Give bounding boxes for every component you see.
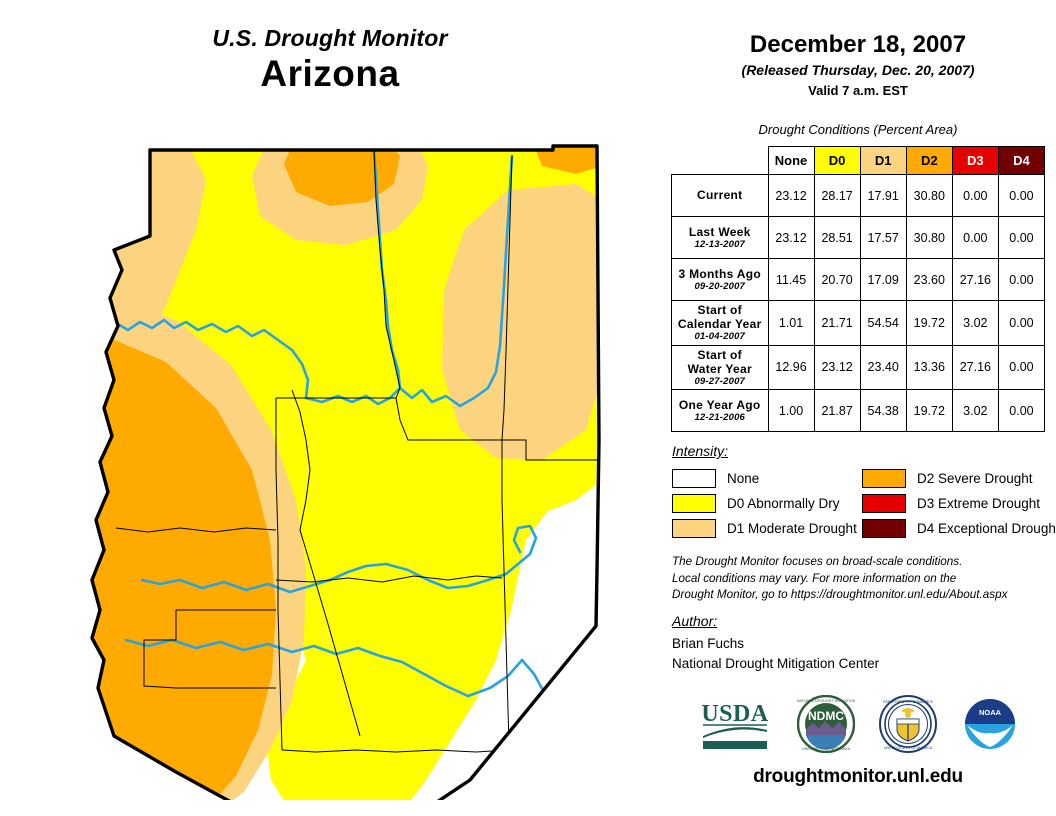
legend-label: D4 Exceptional Drought [917,521,1056,536]
col-header-d0: D0 [814,147,860,175]
svg-text:UNIVERSITY OF NEBRASKA: UNIVERSITY OF NEBRASKA [802,747,851,751]
table-corner-cell [672,147,769,175]
legend-item-d3: D3 Extreme Drought [862,491,1056,515]
row-date: 09-27-2007 [675,376,765,387]
cell-d0: 28.17 [814,175,860,217]
legend-item-d4: D4 Exceptional Drought [862,516,1056,540]
info-panel: December 18, 2007 (Released Thursday, De… [660,0,1056,816]
author-heading: Author: [672,613,717,629]
intensity-heading: Intensity: [672,443,728,459]
cell-d2: 23.60 [906,259,952,301]
state-title: Arizona [0,51,660,97]
table-row: Last Week 12-13-2007 23.12 28.51 17.57 3… [672,217,1045,259]
svg-text:UNITED STATES OF AMERICA: UNITED STATES OF AMERICA [884,746,933,750]
author-block: Brian Fuchs National Drought Mitigation … [672,634,879,675]
legend-column-right: D2 Severe Drought D3 Extreme Drought D4 … [862,466,1056,541]
logo-row: USDA NDMC NATIONAL DROUGHT MITIGATION UN… [660,688,1056,760]
row-date: 01-04-2007 [675,331,765,342]
drought-map[interactable] [56,140,616,800]
table-header-row: None D0 D1 D2 D3 D4 [672,147,1045,175]
col-header-d1: D1 [860,147,906,175]
usdc-seal: DEPARTMENT OF COMMERCE UNITED STATES OF … [879,695,937,753]
cell-d1: 23.40 [860,345,906,390]
row-date: 09-20-2007 [675,281,765,292]
row-name: Start ofWater Year [675,348,765,376]
row-name: Current [675,188,765,202]
cell-d2: 19.72 [906,390,952,432]
disclaimer-text: The Drought Monitor focuses on broad-sca… [672,554,1054,604]
table-row: Start ofWater Year 09-27-2007 12.96 23.1… [672,345,1045,390]
col-header-d3: D3 [952,147,998,175]
svg-text:NATIONAL DROUGHT MITIGATION: NATIONAL DROUGHT MITIGATION [797,699,855,703]
page-title: U.S. Drought Monitor [0,26,660,51]
release-date: (Released Thursday, Dec. 20, 2007) [660,60,1056,81]
cell-d1: 54.38 [860,390,906,432]
usda-logo: USDA [697,696,773,752]
map-panel: U.S. Drought Monitor Arizona [0,0,660,816]
cell-d4: 0.00 [998,259,1044,301]
cell-d3: 0.00 [952,175,998,217]
table-row: 3 Months Ago 09-20-2007 11.45 20.70 17.0… [672,259,1045,301]
cell-d4: 0.00 [998,175,1044,217]
legend-item-d1: D1 Moderate Drought [672,516,857,540]
swatch-d2-icon [862,469,906,488]
cell-d0: 21.71 [814,301,860,346]
svg-text:NDMC: NDMC [808,709,844,723]
cell-d0: 20.70 [814,259,860,301]
cell-d0: 21.87 [814,390,860,432]
cell-d3: 0.00 [952,217,998,259]
cell-d4: 0.00 [998,217,1044,259]
valid-time: Valid 7 a.m. EST [660,81,1056,102]
col-header-d2: D2 [906,147,952,175]
row-date: 12-21-2006 [675,412,765,423]
cell-d1: 17.09 [860,259,906,301]
row-label-one-year-ago: One Year Ago 12-21-2006 [672,390,769,432]
cell-d0: 28.51 [814,217,860,259]
cell-d3: 27.16 [952,345,998,390]
legend-label: None [727,471,759,486]
row-name: Start ofCalendar Year [675,303,765,331]
legend-label: D3 Extreme Drought [917,496,1040,511]
table-body: Current 23.12 28.17 17.91 30.80 0.00 0.0… [672,175,1045,432]
cell-none: 1.01 [768,301,814,346]
cell-none: 23.12 [768,217,814,259]
cell-d3: 3.02 [952,301,998,346]
cell-none: 1.00 [768,390,814,432]
cell-none: 11.45 [768,259,814,301]
report-date: December 18, 2007 [660,30,1056,60]
col-header-none: None [768,147,814,175]
row-label-last-week: Last Week 12-13-2007 [672,217,769,259]
cell-d1: 54.54 [860,301,906,346]
legend-item-d2: D2 Severe Drought [862,466,1056,490]
legend-label: D1 Moderate Drought [727,521,857,536]
col-header-d4: D4 [998,147,1044,175]
cell-d1: 17.57 [860,217,906,259]
table-row: One Year Ago 12-21-2006 1.00 21.87 54.38… [672,390,1045,432]
row-name: One Year Ago [675,398,765,412]
cell-none: 12.96 [768,345,814,390]
row-label-current: Current [672,175,769,217]
author-name: Brian Fuchs [672,634,879,654]
title-block: U.S. Drought Monitor Arizona [0,26,660,98]
swatch-d1-icon [672,519,716,538]
date-block: December 18, 2007 (Released Thursday, De… [660,30,1056,102]
table-row: Current 23.12 28.17 17.91 30.80 0.00 0.0… [672,175,1045,217]
svg-text:DEPARTMENT OF COMMERCE: DEPARTMENT OF COMMERCE [883,700,933,704]
noaa-logo: NOAA [961,695,1019,753]
row-date: 12-13-2007 [675,239,765,250]
cell-d4: 0.00 [998,345,1044,390]
swatch-none-icon [672,469,716,488]
cell-d4: 0.00 [998,390,1044,432]
cell-d2: 19.72 [906,301,952,346]
legend-column-left: None D0 Abnormally Dry D1 Moderate Droug… [672,466,857,541]
cell-d2: 30.80 [906,217,952,259]
legend-item-d0: D0 Abnormally Dry [672,491,857,515]
cell-d2: 30.80 [906,175,952,217]
cell-d0: 23.12 [814,345,860,390]
swatch-d3-icon [862,494,906,513]
legend-label: D2 Severe Drought [917,471,1033,486]
ndmc-logo: NDMC NATIONAL DROUGHT MITIGATION UNIVERS… [797,695,855,753]
svg-text:NOAA: NOAA [979,708,1002,717]
cell-d2: 13.36 [906,345,952,390]
table-row: Start ofCalendar Year 01-04-2007 1.01 21… [672,301,1045,346]
row-label-start-of-water-year: Start ofWater Year 09-27-2007 [672,345,769,390]
cell-d3: 3.02 [952,390,998,432]
cell-d4: 0.00 [998,301,1044,346]
swatch-d4-icon [862,519,906,538]
legend-label: D0 Abnormally Dry [727,496,840,511]
swatch-d0-icon [672,494,716,513]
cell-none: 23.12 [768,175,814,217]
svg-text:USDA: USDA [701,701,769,727]
row-name: 3 Months Ago [675,267,765,281]
cell-d3: 27.16 [952,259,998,301]
table-caption: Drought Conditions (Percent Area) [660,122,1056,137]
author-organization: National Drought Mitigation Center [672,654,879,674]
row-name: Last Week [675,225,765,239]
legend-item-none: None [672,466,857,490]
cell-d1: 17.91 [860,175,906,217]
row-label-start-of-calendar-year: Start ofCalendar Year 01-04-2007 [672,301,769,346]
drought-conditions-table: None D0 D1 D2 D3 D4 Current 23.12 28.17 … [671,146,1045,432]
row-label-3-months-ago: 3 Months Ago 09-20-2007 [672,259,769,301]
site-url: droughtmonitor.unl.edu [660,766,1056,788]
